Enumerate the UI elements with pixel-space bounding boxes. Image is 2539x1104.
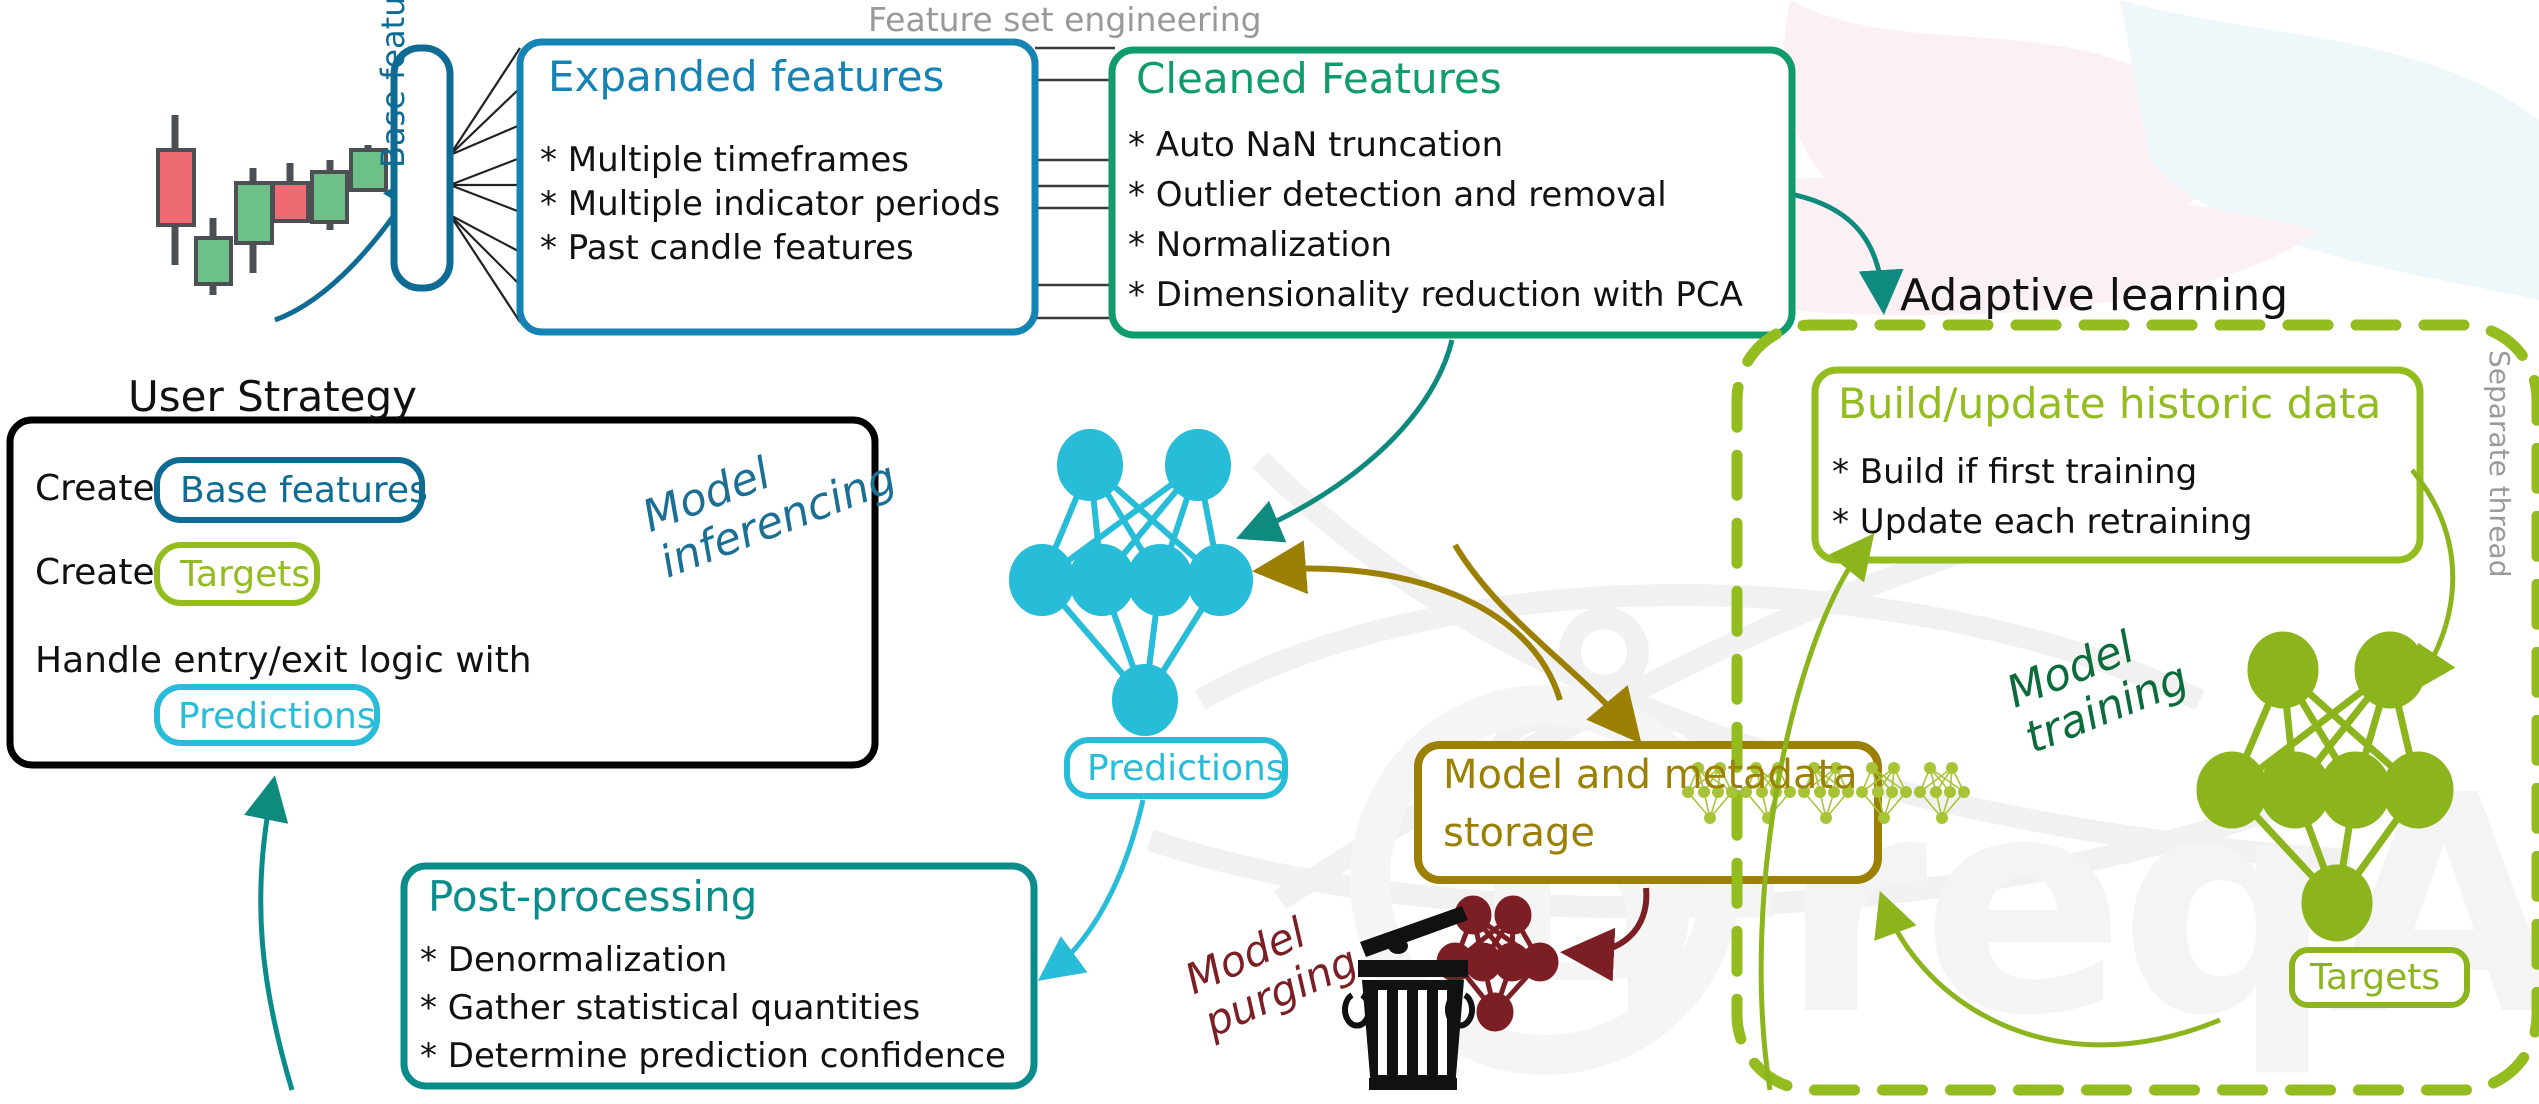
chip-targets-training-label: Targets bbox=[2310, 957, 2440, 998]
expanded-features-bullet-1: * Multiple indicator periods bbox=[540, 182, 1000, 227]
candle-3 bbox=[236, 168, 272, 273]
arrow-cleaned-to-inference bbox=[1250, 340, 1452, 533]
cleaned-features-title: Cleaned Features bbox=[1136, 57, 1502, 101]
post-processing-bullet-2: * Determine prediction confidence bbox=[420, 1034, 1006, 1079]
user-strategy-logic-line: Handle entry/exit logic with bbox=[35, 640, 532, 681]
base-features-label: Base features bbox=[374, 0, 412, 168]
arrow-postprocessing-to-strategy bbox=[261, 790, 292, 1090]
chip-predictions-strategy-label: Predictions bbox=[178, 696, 376, 737]
feature-set-engineering-label: Feature set engineering bbox=[868, 0, 1262, 39]
candle-2 bbox=[196, 218, 231, 295]
post-processing-title: Post-processing bbox=[428, 875, 757, 919]
storage-line2: storage bbox=[1443, 810, 1595, 856]
user-strategy-heading: User Strategy bbox=[128, 372, 417, 421]
arrow-predictions-to-postprocessing bbox=[1050, 800, 1143, 972]
candle-4 bbox=[273, 163, 308, 222]
candle-1 bbox=[158, 115, 194, 265]
chip-predictions-inference-label: Predictions bbox=[1087, 748, 1285, 789]
candle-5 bbox=[312, 160, 347, 230]
expanded-features-bullet-2: * Past candle features bbox=[540, 226, 914, 271]
chip-base-features-label: Base features bbox=[180, 470, 428, 511]
diagram-canvas: FreqAI B bbox=[0, 0, 2539, 1104]
post-processing-bullet-1: * Gather statistical quantities bbox=[420, 986, 920, 1031]
historic-data-bullet-1: * Update each retraining bbox=[1832, 500, 2252, 545]
expanded-features-bullet-0: * Multiple timeframes bbox=[540, 138, 909, 183]
historic-data-bullet-0: * Build if first training bbox=[1832, 450, 2197, 495]
cleaned-features-bullet-2: * Normalization bbox=[1128, 223, 1392, 268]
cleaned-features-bullet-1: * Outlier detection and removal bbox=[1128, 173, 1667, 218]
cleaned-features-bullet-0: * Auto NaN truncation bbox=[1128, 123, 1503, 168]
fanout-lines bbox=[450, 48, 520, 322]
cleaned-features-bullet-3: * Dimensionality reduction with PCA bbox=[1128, 273, 1743, 318]
historic-data-title: Build/update historic data bbox=[1838, 382, 2381, 426]
user-strategy-create-label-0: Create bbox=[35, 468, 155, 509]
storage-line1: Model and metadata bbox=[1443, 752, 1858, 798]
post-processing-bullet-0: * Denormalization bbox=[420, 938, 727, 983]
user-strategy-create-label-1: Create bbox=[35, 552, 155, 593]
connector-lines bbox=[1035, 48, 1115, 318]
expanded-features-title: Expanded features bbox=[548, 55, 944, 99]
chip-targets-label: Targets bbox=[180, 554, 310, 595]
separate-thread-label: Separate thread bbox=[2483, 350, 2516, 578]
adaptive-learning-heading: Adaptive learning bbox=[1900, 270, 2288, 321]
